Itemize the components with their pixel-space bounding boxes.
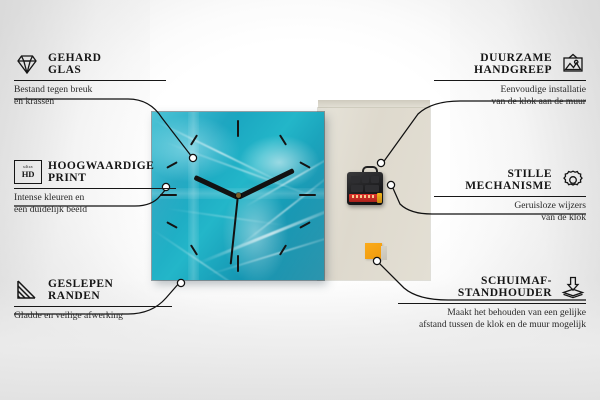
battery-positive-cap xyxy=(377,193,382,203)
clock-hand-hub xyxy=(236,193,241,198)
hour-marker-12 xyxy=(237,120,239,137)
hour-marker-3 xyxy=(299,194,316,196)
movement-detail xyxy=(351,176,360,183)
movement-detail xyxy=(371,176,379,183)
feature-description: Geruisloze wijzers van de klok xyxy=(434,200,586,223)
feature-heading: SCHUIMAF- STANDHOUDER xyxy=(398,275,586,299)
ultra-hd-icon: ultra HD xyxy=(14,160,40,184)
movement-detail xyxy=(362,176,369,183)
feature-description: Intense kleuren en een duidelijk beeld xyxy=(14,192,176,215)
glass-wall-clock xyxy=(152,112,324,280)
divider xyxy=(434,80,586,81)
feature-title: SCHUIMAF- STANDHOUDER xyxy=(458,275,552,299)
feature-heading: STILLE MECHANISME xyxy=(434,168,586,192)
gear-icon xyxy=(560,168,586,192)
feature-description: Maakt het behouden van een gelijke afsta… xyxy=(398,307,586,330)
infographic-canvas: GEHARD GLAS Bestand tegen breuk en krass… xyxy=(0,0,600,400)
foam-spacer-pad xyxy=(365,243,382,259)
feature-hoogwaardige-print: ultra HD HOOGWAARDIGE PRINT Intense kleu… xyxy=(14,160,176,216)
feature-duurzame-handgreep: DUURZAME HANDGREEP Eenvoudige installati… xyxy=(434,52,586,108)
feature-description: Bestand tegen breuk en krassen xyxy=(14,84,166,107)
feature-heading: GEHARD GLAS xyxy=(14,52,166,76)
foam-spacer-icon xyxy=(560,275,586,299)
feature-geslepen-randen: GESLEPEN RANDEN Gladde en veilige afwerk… xyxy=(14,278,172,322)
feature-title: GEHARD GLAS xyxy=(48,52,101,76)
feature-description: Gladde en veilige afwerking xyxy=(14,310,172,322)
feature-title: STILLE MECHANISME xyxy=(465,168,552,192)
feature-gehard-glas: GEHARD GLAS Bestand tegen breuk en krass… xyxy=(14,52,166,108)
feature-title: GESLEPEN RANDEN xyxy=(48,278,113,302)
feature-heading: DUURZAME HANDGREEP xyxy=(434,52,586,76)
divider xyxy=(14,188,176,189)
divider xyxy=(14,80,166,81)
divider xyxy=(398,303,586,304)
movement-detail xyxy=(351,185,363,192)
feature-title: DUURZAME HANDGREEP xyxy=(474,52,552,76)
battery-label xyxy=(352,195,376,198)
movement-detail xyxy=(365,185,379,192)
foam-spacer-pad-side xyxy=(381,246,387,260)
feature-heading: GESLEPEN RANDEN xyxy=(14,278,172,302)
feature-stille-mechanisme: STILLE MECHANISME Geruisloze wijzers van… xyxy=(434,168,586,224)
hour-marker-6 xyxy=(237,255,239,272)
feature-title: HOOGWAARDIGE PRINT xyxy=(48,160,154,184)
beveled-edges-icon xyxy=(14,278,40,302)
diamond-icon xyxy=(14,52,40,76)
feature-heading: ultra HD HOOGWAARDIGE PRINT xyxy=(14,160,176,184)
divider xyxy=(14,306,172,307)
feature-description: Eenvoudige installatie van de klok aan d… xyxy=(434,84,586,107)
divider xyxy=(434,196,586,197)
feature-schuimafstandhouder: SCHUIMAF- STANDHOUDER Maakt het behouden… xyxy=(398,275,586,331)
picture-hanger-icon xyxy=(560,52,586,76)
